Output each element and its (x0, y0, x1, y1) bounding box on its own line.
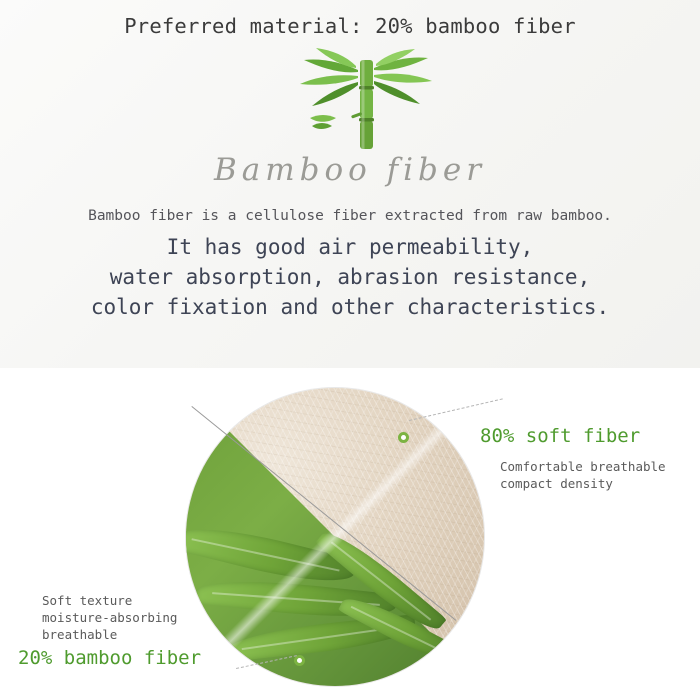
bamboo-fiber-title: 20% bamboo fiber (18, 647, 201, 669)
soft-fiber-title: 80% soft fiber (480, 425, 640, 447)
intro-sentence: Bamboo fiber is a cellulose fiber extrac… (0, 208, 700, 224)
description-line-1: It has good air permeability, (0, 232, 700, 262)
soft-fiber-subtext-2: compact density (500, 475, 613, 492)
material-breakdown-section: 80% soft fiber Comfortable breathable co… (0, 368, 700, 700)
top-info-section: Preferred material: 20% bamboo fiber (0, 0, 700, 368)
script-heading: Bamboo fiber (0, 152, 700, 188)
description-line-2: water absorption, abrasion resistance, (0, 262, 700, 292)
soft-fiber-subtext-1: Comfortable breathable (500, 458, 666, 475)
bamboo-fiber-subtext-2: moisture-absorbing (42, 609, 177, 626)
product-detail-page: Preferred material: 20% bamboo fiber (0, 0, 700, 700)
soft-fiber-marker-dot (398, 432, 409, 443)
bamboo-fiber-subtext-3: breathable (42, 626, 117, 643)
bamboo-fiber-marker-dot (294, 655, 305, 666)
bamboo-fiber-subtext-1: Soft texture (42, 592, 132, 609)
material-closeup-photo (186, 388, 484, 686)
description-block: It has good air permeability, water abso… (0, 232, 700, 322)
diagonal-sheen (186, 388, 484, 686)
description-line-3: color fixation and other characteristics… (0, 292, 700, 322)
page-title: Preferred material: 20% bamboo fiber (0, 14, 700, 38)
bamboo-stalk-illustration (252, 48, 452, 153)
